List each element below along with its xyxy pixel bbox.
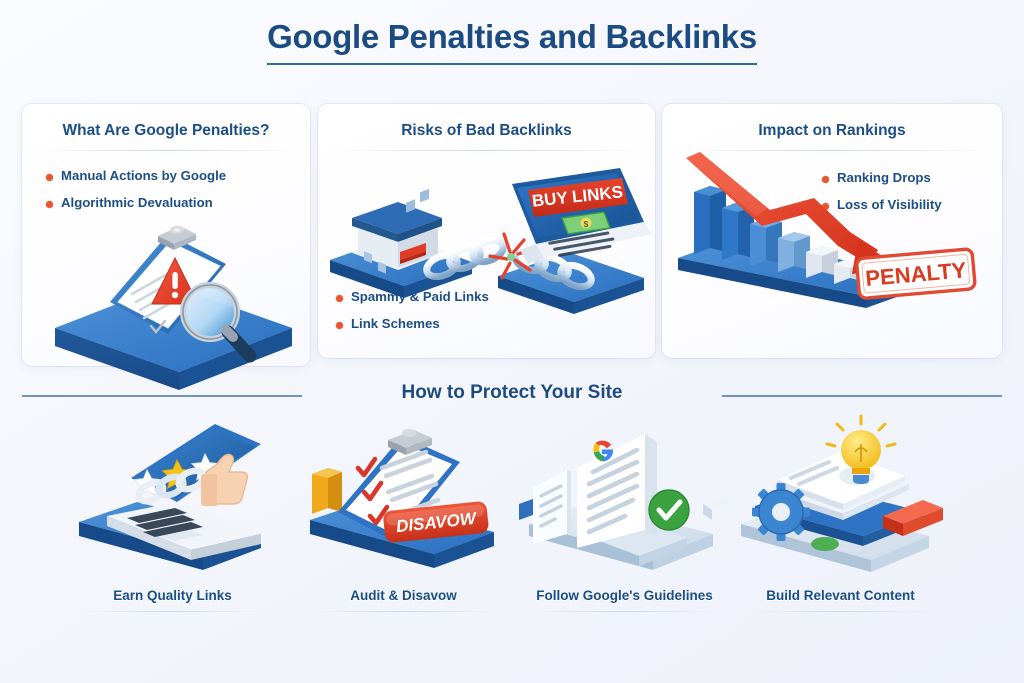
art-laptop-stars-chain-thumbsup — [65, 418, 280, 568]
caption-rule — [747, 611, 934, 612]
bar — [778, 232, 810, 272]
art-documents-lightbulb-gear — [733, 418, 948, 568]
page-title-wrap: Google Penalties and Backlinks — [0, 18, 1024, 65]
side-block-icon — [703, 496, 732, 520]
bottom-item-caption: Audit & Disavow — [296, 588, 511, 603]
card-title: Impact on Rankings — [662, 122, 1002, 140]
infographic-canvas: Google Penalties and Backlinks What Are … — [0, 0, 1024, 683]
bottom-item-earn-quality-links: Earn Quality Links — [65, 418, 280, 618]
art-google-documents-approved — [517, 418, 732, 568]
caption-rule — [531, 611, 718, 612]
art-clipboard-warning-magnifier — [40, 206, 310, 376]
bar — [694, 186, 726, 254]
art-broken-chain-buy-links: BUY LINKS $ — [322, 160, 652, 305]
bottom-item-follow-googles-guidelines: Follow Google's Guidelines — [517, 418, 732, 618]
green-check-circle-icon — [649, 490, 689, 530]
section-title: How to Protect Your Site — [0, 382, 1024, 404]
bottom-item-build-relevant-content: Build Relevant Content — [733, 418, 948, 618]
art-declining-bar-chart-penalty: PENALTY — [672, 150, 982, 308]
bottom-item-caption: Follow Google's Guidelines — [517, 588, 732, 603]
caption-rule — [310, 611, 497, 612]
card-title: Risks of Bad Backlinks — [318, 122, 655, 140]
list-item: Link Schemes — [336, 316, 489, 331]
burst-core-icon — [507, 253, 515, 261]
bullet-dot-icon — [46, 174, 53, 181]
bottom-item-caption: Earn Quality Links — [65, 588, 280, 603]
card-title: What Are Google Penalties? — [22, 122, 310, 140]
bar — [750, 218, 782, 266]
page-title: Google Penalties and Backlinks — [267, 18, 757, 65]
art-clipboard-checklist-disavow: DISAVOW — [296, 418, 511, 568]
orange-bar-icon — [312, 468, 342, 514]
card-title-rule — [336, 150, 637, 151]
bullet-dot-icon — [336, 322, 343, 329]
bullet-label: Link Schemes — [351, 316, 440, 331]
gear-icon — [752, 483, 810, 541]
caption-rule — [79, 611, 266, 612]
document-icon — [533, 470, 571, 544]
laptop-icon: BUY LINKS $ — [512, 168, 652, 264]
list-item: Manual Actions by Google — [46, 168, 226, 183]
green-dot-icon — [811, 537, 839, 551]
dollar-symbol: $ — [584, 219, 589, 229]
bullet-label: Manual Actions by Google — [61, 168, 226, 183]
section-divider: How to Protect Your Site — [0, 382, 1024, 408]
bottom-item-audit-and-disavow: DISAVOW Audit & Disavow — [296, 418, 511, 618]
card-title-rule — [40, 150, 292, 151]
google-g-logo-icon — [575, 434, 613, 462]
bottom-item-caption: Build Relevant Content — [733, 588, 948, 603]
penalty-stamp-icon: PENALTY — [856, 249, 975, 299]
